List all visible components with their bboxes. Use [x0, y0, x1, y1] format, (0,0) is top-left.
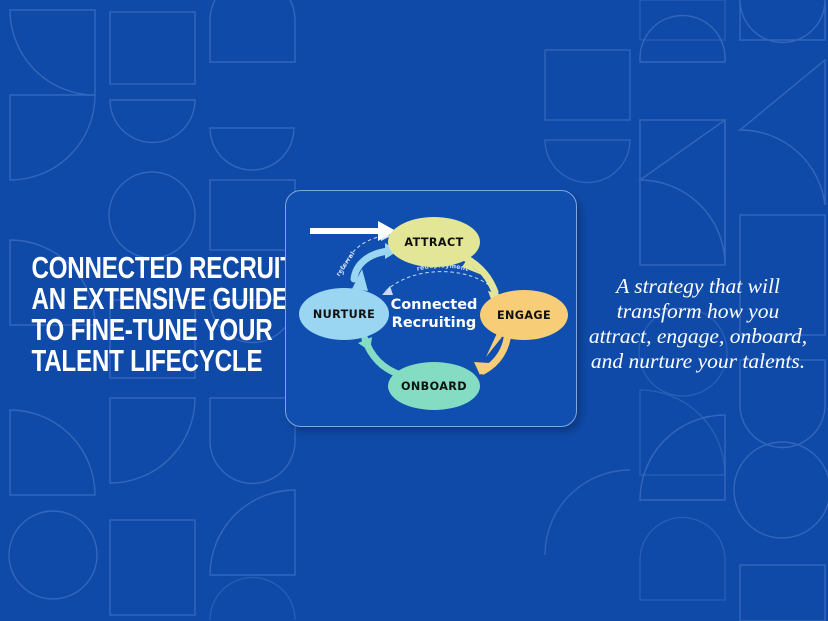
page-title-line-2: AN EXTENSIVE GUIDE: [31, 283, 254, 314]
page-title-line-4: TALENT LIFECYCLE: [31, 345, 254, 376]
flow-arrow-engage-to-onboard: [474, 331, 508, 375]
diagram-center-label-line-1: Connected: [391, 297, 478, 313]
blurb-text: A strategy that will transform how you a…: [570, 274, 826, 374]
node-onboard-label: ONBOARD: [401, 380, 467, 393]
node-engage[interactable]: ENGAGE: [480, 290, 568, 357]
page-title-line-1: CONNECTED RECRUITING:: [31, 252, 254, 283]
node-attract[interactable]: ATTRACT: [388, 217, 482, 275]
blurb-line-3: attract, engage, onboard,: [570, 324, 826, 349]
diagram-center-label: Connected Recruiting: [391, 297, 478, 331]
blurb-line-2: transform how you: [570, 299, 826, 324]
node-onboard[interactable]: ONBOARD: [388, 362, 480, 410]
connected-recruiting-diagram-card: referral redeployment ATTRACT: [285, 190, 577, 427]
blurb-line-4: and nurture your talents.: [570, 349, 826, 374]
node-engage-label: ENGAGE: [497, 309, 551, 322]
node-nurture-label: NURTURE: [313, 308, 375, 321]
slide-canvas: CONNECTED RECRUITING: AN EXTENSIVE GUIDE…: [0, 0, 828, 621]
node-attract-label: ATTRACT: [404, 236, 463, 249]
page-title-line-3: TO FINE-TUNE YOUR: [31, 314, 254, 345]
diagram-center-label-line-2: Recruiting: [392, 315, 477, 331]
blurb-line-1: A strategy that will: [570, 274, 826, 299]
flow-arrow-onboard-to-nurture: [358, 337, 401, 375]
connected-recruiting-diagram: referral redeployment ATTRACT: [286, 191, 576, 426]
node-nurture[interactable]: NURTURE: [299, 269, 389, 340]
page-title: CONNECTED RECRUITING: AN EXTENSIVE GUIDE…: [0, 252, 286, 376]
entry-arrow-icon: [310, 221, 396, 241]
